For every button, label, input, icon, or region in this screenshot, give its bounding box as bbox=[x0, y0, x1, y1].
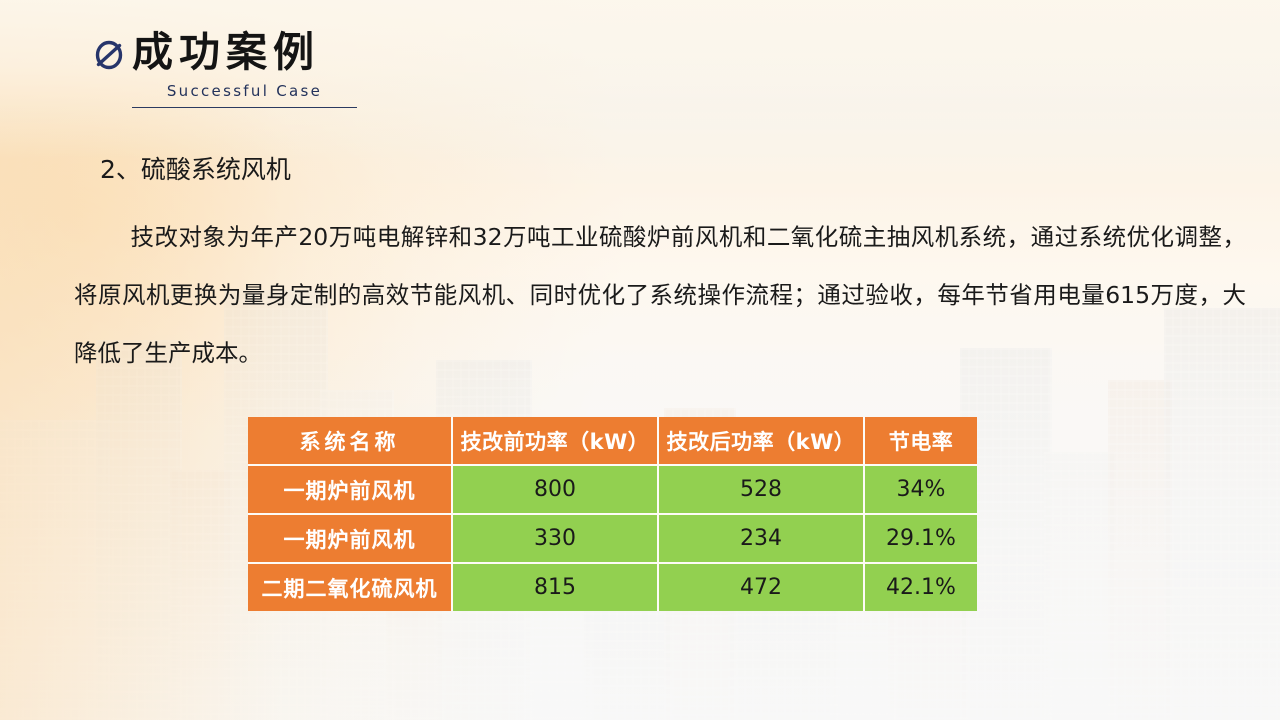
body-paragraph: 技改对象为年产20万吨电解锌和32万吨工业硫酸炉前风机和二氧化硫主抽风机系统，通… bbox=[74, 208, 1246, 382]
cell-saving-rate: 29.1% bbox=[865, 515, 977, 564]
cell-power-before: 800 bbox=[453, 466, 659, 515]
cell-power-after: 234 bbox=[659, 515, 865, 564]
slashed-circle-icon bbox=[92, 38, 126, 72]
column-header-power-before: 技改前功率（kW） bbox=[453, 417, 659, 466]
table-header: 系统名称 技改前功率（kW） 技改后功率（kW） 节电率 bbox=[248, 417, 977, 466]
subtitle-block: Successful Case bbox=[132, 82, 357, 108]
cell-system-name: 二期二氧化硫风机 bbox=[248, 564, 453, 611]
cell-power-before: 815 bbox=[453, 564, 659, 611]
cell-saving-rate: 42.1% bbox=[865, 564, 977, 611]
column-header-power-after: 技改后功率（kW） bbox=[659, 417, 865, 466]
column-header-saving-rate: 节电率 bbox=[865, 417, 977, 466]
paragraph-text: 技改对象为年产20万吨电解锌和32万吨工业硫酸炉前风机和二氧化硫主抽风机系统，通… bbox=[74, 223, 1246, 367]
slide-canvas: 成功案例 Successful Case 2、硫酸系统风机 技改对象为年产20万… bbox=[0, 0, 1280, 720]
table-row: 二期二氧化硫风机 815 472 42.1% bbox=[248, 564, 977, 611]
table-header-row: 系统名称 技改前功率（kW） 技改后功率（kW） 节电率 bbox=[248, 417, 977, 466]
title-row: 成功案例 bbox=[92, 32, 357, 73]
section-heading: 2、硫酸系统风机 bbox=[100, 150, 291, 186]
cell-power-after: 528 bbox=[659, 466, 865, 515]
table-row: 一期炉前风机 330 234 29.1% bbox=[248, 515, 977, 564]
cell-saving-rate: 34% bbox=[865, 466, 977, 515]
cell-power-after: 472 bbox=[659, 564, 865, 611]
results-table: 系统名称 技改前功率（kW） 技改后功率（kW） 节电率 一期炉前风机 800 … bbox=[248, 417, 977, 611]
cell-system-name: 一期炉前风机 bbox=[248, 515, 453, 564]
cell-power-before: 330 bbox=[453, 515, 659, 564]
subtitle-divider bbox=[132, 107, 357, 108]
table-row: 一期炉前风机 800 528 34% bbox=[248, 466, 977, 515]
page-title: 成功案例 bbox=[132, 32, 320, 73]
page-subtitle: Successful Case bbox=[132, 82, 357, 100]
slide-header: 成功案例 Successful Case bbox=[92, 32, 357, 108]
cell-system-name: 一期炉前风机 bbox=[248, 466, 453, 515]
table-body: 一期炉前风机 800 528 34% 一期炉前风机 330 234 29.1% … bbox=[248, 466, 977, 611]
column-header-system-name: 系统名称 bbox=[248, 417, 453, 466]
